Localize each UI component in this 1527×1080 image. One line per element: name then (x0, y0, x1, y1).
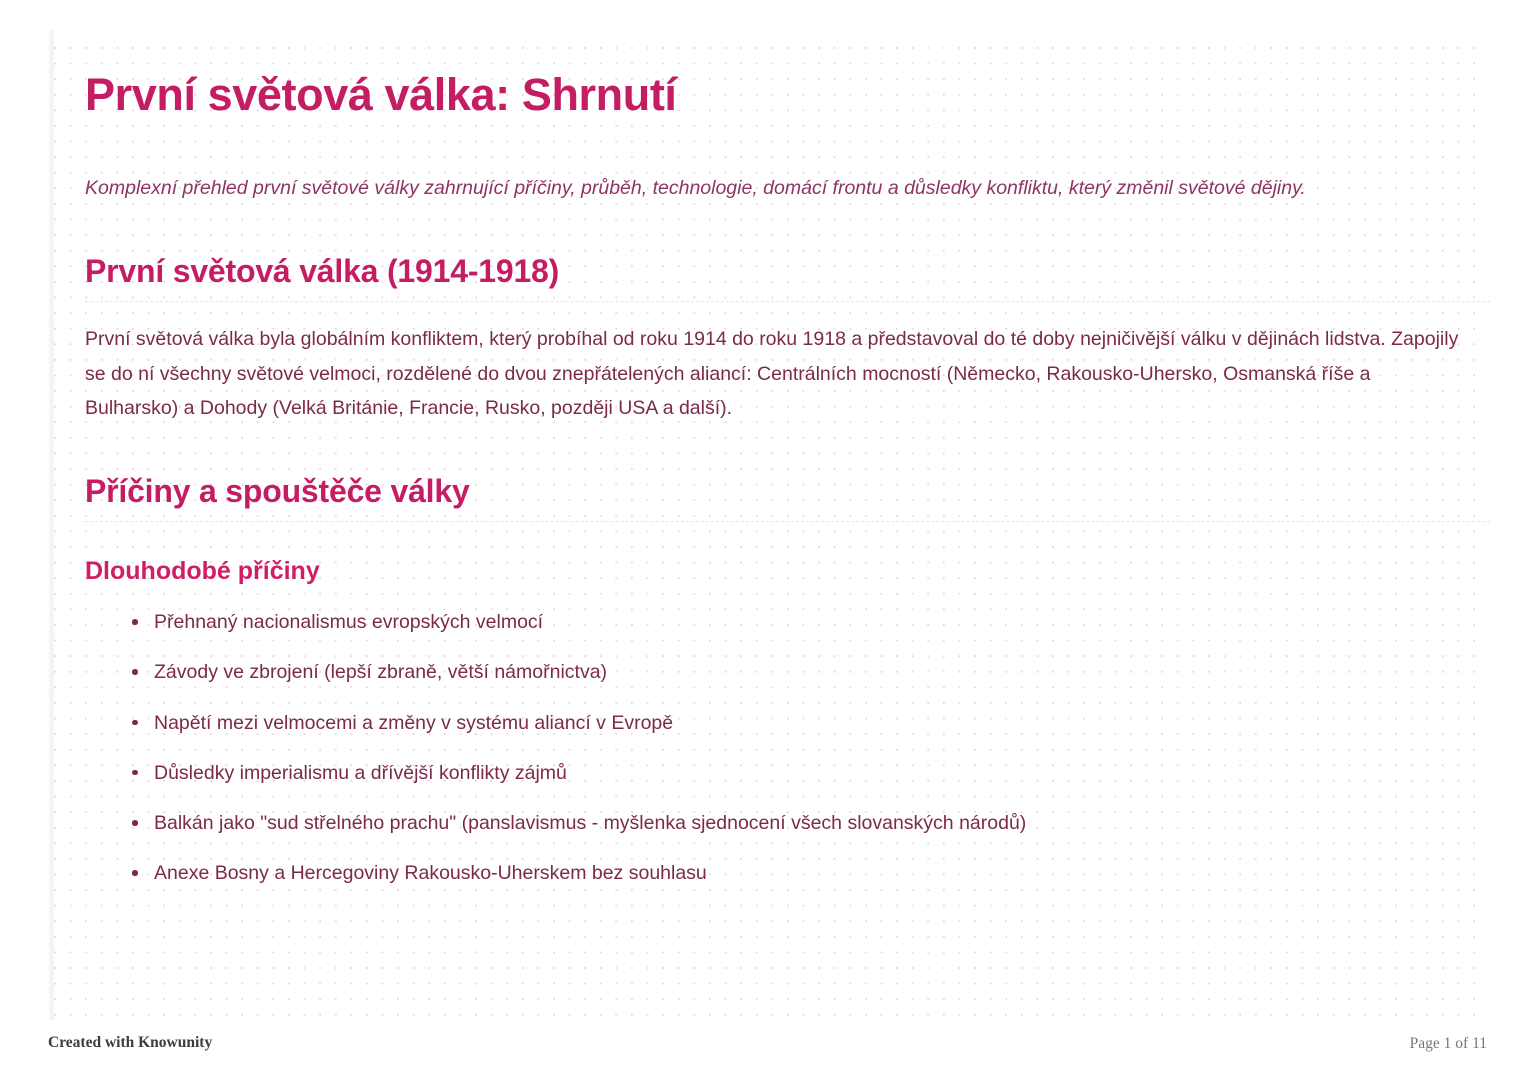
list-item-label: Přehnaný nacionalismus evropských velmoc… (154, 611, 543, 633)
section-heading: První světová válka (1914-1918) (85, 252, 1490, 302)
bullet-dot-icon (132, 720, 138, 726)
section-causes-and-triggers: Příčiny a spouštěče války Dlouhodobé pří… (85, 472, 1490, 889)
page-number-indicator: Page 1 of 11 (1410, 1035, 1487, 1053)
section-heading: Příčiny a spouštěče války (85, 472, 1490, 522)
list-item-label: Napětí mezi velmocemi a změny v systému … (154, 712, 673, 734)
document-page: První světová válka: Shrnutí Komplexní p… (0, 0, 1527, 1080)
list-item-label: Balkán jako "sud střelného prachu" (pans… (154, 812, 1026, 834)
page-title: První světová válka: Shrnutí (85, 0, 1490, 120)
bullet-dot-icon (132, 870, 138, 876)
list-item-label: Anexe Bosny a Hercegoviny Rakousko-Uhers… (154, 862, 707, 884)
page-footer: Created with Knowunity Page 1 of 11 (0, 1020, 1527, 1080)
list-item-label: Důsledky imperialismu a dřívější konflik… (154, 762, 567, 784)
created-with-label: Created with Knowunity (48, 1034, 212, 1052)
document-content: První světová válka: Shrnutí Komplexní p… (85, 0, 1490, 1020)
list-item: Závody ve zbrojení (lepší zbraně, větší … (130, 658, 1490, 687)
list-item: Anexe Bosny a Hercegoviny Rakousko-Uhers… (130, 859, 1490, 888)
bullet-dot-icon (132, 619, 138, 625)
sub-heading-long-term-causes: Dlouhodobé příčiny (85, 522, 1490, 586)
list-item: Přehnaný nacionalismus evropských velmoc… (130, 608, 1490, 637)
page-left-edge-shadow (48, 30, 55, 1030)
list-item: Balkán jako "sud střelného prachu" (pans… (130, 809, 1490, 838)
long-term-causes-list: Přehnaný nacionalismus evropských velmoc… (85, 586, 1490, 889)
bullet-dot-icon (132, 669, 138, 675)
list-item: Napětí mezi velmocemi a změny v systému … (130, 709, 1490, 738)
section-first-world-war: První světová válka (1914-1918) První sv… (85, 252, 1490, 426)
section-paragraph: První světová válka byla globálním konfl… (85, 302, 1460, 426)
bullet-dot-icon (132, 770, 138, 776)
document-subtitle: Komplexní přehled první světové války za… (85, 120, 1385, 206)
list-item-label: Závody ve zbrojení (lepší zbraně, větší … (154, 661, 607, 683)
list-item: Důsledky imperialismu a dřívější konflik… (130, 759, 1490, 788)
bullet-dot-icon (132, 820, 138, 826)
